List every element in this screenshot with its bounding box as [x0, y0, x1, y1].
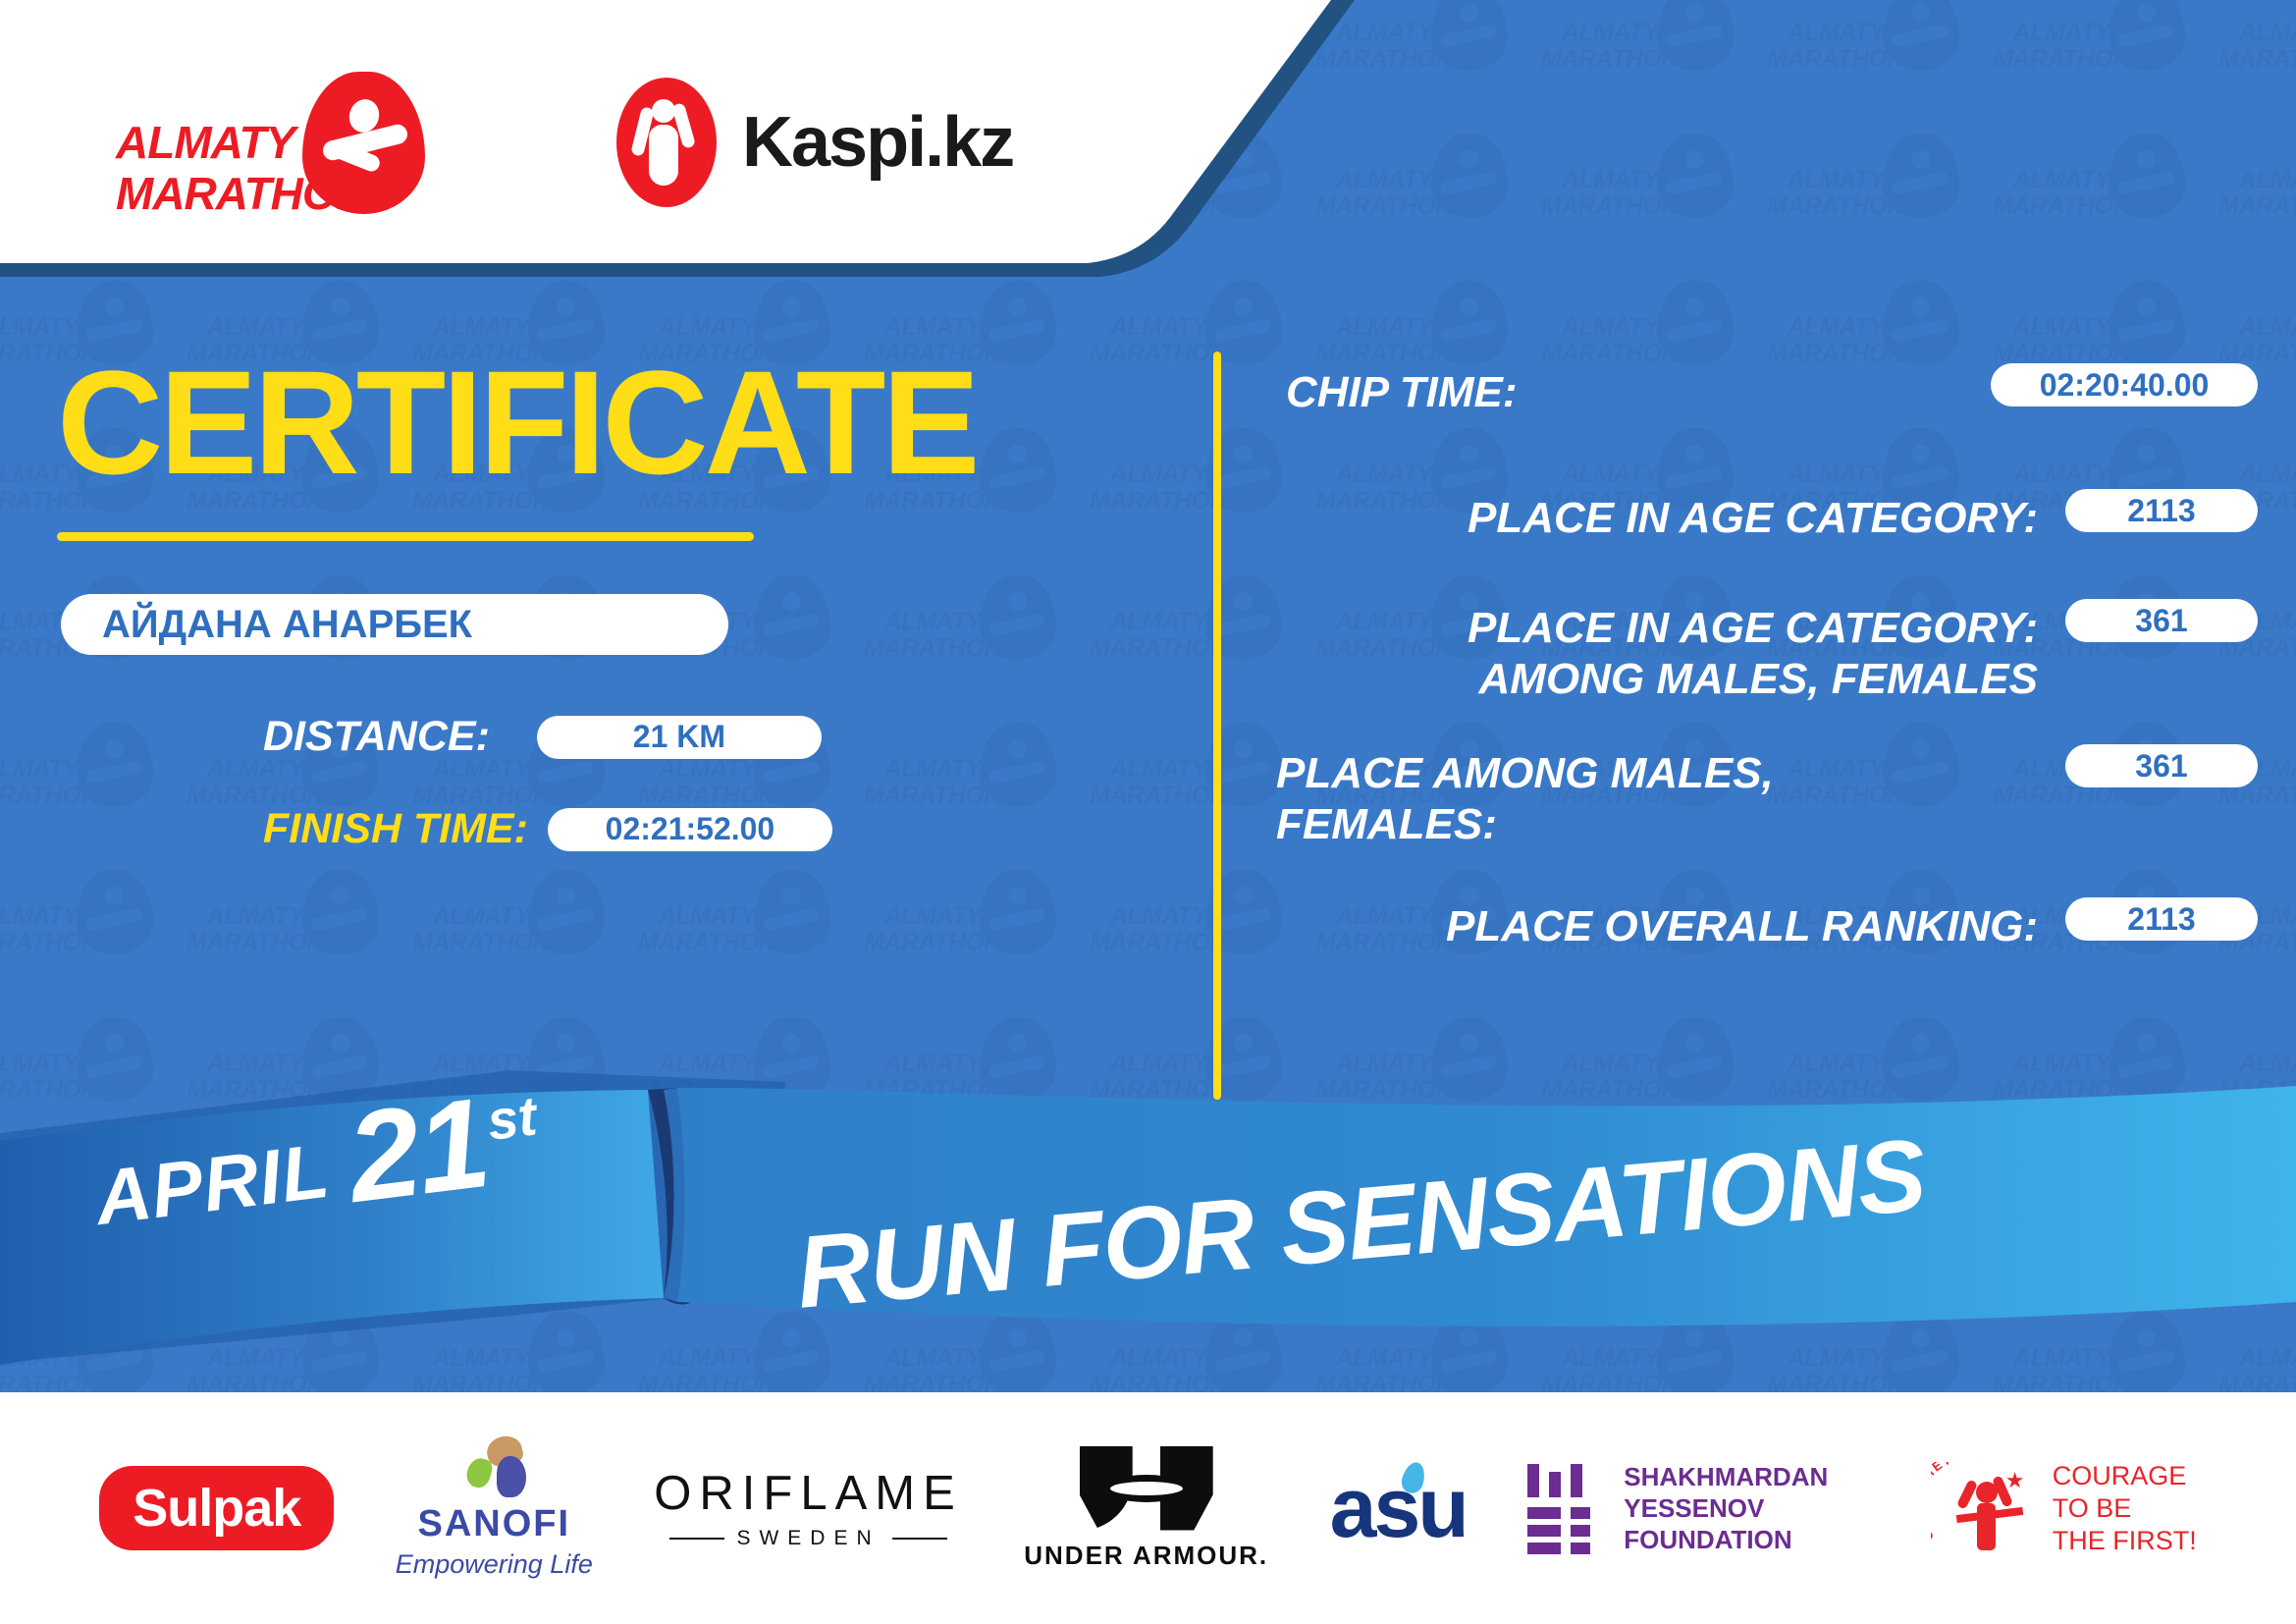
- label-line-1: PLACE AMONG MALES,: [1276, 748, 2038, 799]
- watermark-drop-icon: [2109, 281, 2185, 365]
- watermark-text: ALMATYMARATHON: [1541, 167, 1659, 220]
- yessenov-foundation-wordmark: SHAKHMARDAN YESSENOV FOUNDATION: [1624, 1461, 1869, 1555]
- watermark-tile: ALMATYMARATHON: [1993, 128, 2218, 275]
- watermark-tile: ALMATYMARATHON: [1541, 128, 1767, 275]
- distance-label: DISTANCE:: [263, 713, 490, 761]
- watermark-tile: ALMATYMARATHON: [1315, 128, 1541, 275]
- under-armour-icon: [1080, 1446, 1213, 1531]
- vertical-divider: [1213, 352, 1221, 1100]
- place-age-category-value: 2113: [2065, 489, 2258, 532]
- watermark-text: ALMATYMARATHON: [1541, 20, 1659, 73]
- participant-name-field: АЙДАНА АНАРБЕК: [61, 594, 728, 655]
- watermark-drop-icon: [2109, 0, 2185, 71]
- watermark-text: ALMATYMARATHON: [1315, 314, 1433, 367]
- oriflame-tagline: SWEDEN: [736, 1527, 880, 1550]
- sponsor-under-armour: UNDER ARMOUR.: [1024, 1446, 1268, 1571]
- sponsor-oriflame: ORIFLAME SWEDEN: [654, 1466, 962, 1550]
- chip-time-value: 02:20:40.00: [1991, 363, 2258, 406]
- asu-text: asu: [1330, 1461, 1467, 1555]
- place-age-category-label: PLACE IN AGE CATEGORY:: [1276, 489, 2065, 544]
- distance-value: 21 KM: [537, 716, 822, 759]
- kaspi-logo: Kaspi.kz: [616, 78, 1013, 207]
- watermark-drop-icon: [1883, 134, 1959, 218]
- place-age-category-among-value: 361: [2065, 599, 2258, 642]
- watermark-drop-icon: [1883, 281, 1959, 365]
- logo-line-2: MARATHON: [116, 168, 302, 219]
- almaty-marathon-logo: ALMATY MARATHON: [116, 64, 440, 221]
- certificate-canvas: ALMATYMARATHONALMATYMARATHONALMATYMARATH…: [0, 0, 2296, 1624]
- divider-line-right: [892, 1538, 947, 1540]
- stat-row: PLACE AMONG MALES, FEMALES: 361: [1276, 744, 2258, 850]
- star-icon: ★: [2005, 1468, 2025, 1493]
- watermark-drop-icon: [1431, 0, 1508, 71]
- watermark-text: ALMATYMARATHON: [2218, 314, 2296, 367]
- watermark-tile: ALMATYMARATHON: [1993, 0, 2218, 128]
- watermark-text: ALMATYMARATHON: [1315, 20, 1433, 73]
- kaspi-person-icon: [616, 78, 717, 207]
- place-among-males-females-value: 361: [2065, 744, 2258, 787]
- watermark-tile: ALMATYMARATHON: [2218, 128, 2296, 275]
- watermark-drop-icon: [1431, 281, 1508, 365]
- stats-column: CHIP TIME: 02:20:40.00 PLACE IN AGE CATE…: [1276, 363, 2258, 980]
- distance-row: DISTANCE: 21 KM: [263, 713, 822, 761]
- stat-row: PLACE IN AGE CATEGORY: AMONG MALES, FEMA…: [1276, 599, 2258, 705]
- sulpak-wordmark: Sulpak: [99, 1466, 334, 1550]
- sanofi-tagline: Empowering Life: [396, 1549, 593, 1580]
- yessenov-glyph-icon: [1527, 1464, 1600, 1552]
- place-overall-ranking-value: 2113: [2065, 897, 2258, 941]
- corporate-fund-wordmark: COURAGETO BETHE FIRST!: [2053, 1460, 2197, 1557]
- watermark-text: ALMATYMARATHON: [2218, 20, 2296, 73]
- watermark-text: ALMATYMARATHON: [1993, 20, 2110, 73]
- sponsor-yessenov-foundation: SHAKHMARDAN YESSENOV FOUNDATION: [1527, 1461, 1869, 1555]
- watermark-tile: ALMATYMARATHON: [2218, 0, 2296, 128]
- stat-row: PLACE OVERALL RANKING: 2113: [1276, 897, 2258, 952]
- oriflame-wordmark: ORIFLAME: [654, 1466, 962, 1521]
- watermark-drop-icon: [1431, 134, 1508, 218]
- watermark-text: ALMATYMARATHON: [1767, 167, 1885, 220]
- divider-line-left: [669, 1538, 724, 1540]
- page-title: CERTIFICATE: [57, 349, 977, 496]
- corporate-fund-icon: CORPORATE FUND ★: [1931, 1456, 2039, 1560]
- watermark-drop-icon: [2109, 134, 2185, 218]
- sponsor-corporate-fund: CORPORATE FUND ★ COURAGETO BETHE FIRST!: [1931, 1456, 2197, 1560]
- watermark-drop-icon: [1883, 0, 1959, 71]
- place-among-males-females-label: PLACE AMONG MALES, FEMALES:: [1276, 744, 2065, 850]
- place-age-category-among-label: PLACE IN AGE CATEGORY: AMONG MALES, FEMA…: [1276, 599, 2065, 705]
- watermark-tile: ALMATYMARATHON: [1767, 128, 1993, 275]
- stat-row: PLACE IN AGE CATEGORY: 2113: [1276, 489, 2258, 544]
- label-line-1: PLACE IN AGE CATEGORY:: [1276, 603, 2038, 654]
- stat-row: CHIP TIME: 02:20:40.00: [1276, 363, 2258, 418]
- finish-time-row: FINISH TIME: 02:21:52.00: [263, 805, 832, 853]
- sponsor-asu: asu: [1330, 1460, 1467, 1557]
- title-divider: [57, 532, 754, 541]
- watermark-drop-icon: [1657, 281, 1734, 365]
- label-line-2: FEMALES:: [1276, 799, 2038, 850]
- asu-wordmark: asu: [1330, 1460, 1467, 1557]
- watermark-tile: ALMATYMARATHON: [1541, 0, 1767, 128]
- label-line-2: AMONG MALES, FEMALES: [1276, 654, 2038, 705]
- header-content: ALMATY MARATHON Kaspi.kz: [0, 0, 1276, 285]
- watermark-text: ALMATYMARATHON: [1315, 167, 1433, 220]
- event-day: 21: [342, 1084, 493, 1218]
- sanofi-bird-icon: [459, 1436, 528, 1497]
- chip-time-label: CHIP TIME:: [1276, 363, 1991, 418]
- certificate-left-column: CERTIFICATE АЙДАНА АНАРБЕК DISTANCE: 21 …: [0, 324, 1158, 1110]
- place-overall-ranking-label: PLACE OVERALL RANKING:: [1276, 897, 2065, 952]
- watermark-tile: ALMATYMARATHON: [1315, 0, 1541, 128]
- event-day-suffix: st: [484, 1083, 540, 1153]
- finish-time-value: 02:21:52.00: [548, 808, 832, 851]
- watermark-text: ALMATYMARATHON: [2218, 167, 2296, 220]
- sponsor-sulpak: Sulpak: [99, 1466, 334, 1550]
- sanofi-wordmark: SANOFI: [396, 1503, 593, 1545]
- watermark-text: ALMATYMARATHON: [1767, 20, 1885, 73]
- watermark-tile: ALMATYMARATHON: [1767, 0, 1993, 128]
- participant-name-value: АЙДАНА АНАРБЕК: [102, 603, 472, 647]
- watermark-drop-icon: [1657, 134, 1734, 218]
- watermark-text: ALMATYMARATHON: [1993, 167, 2110, 220]
- sponsor-strip: Sulpak SANOFI Empowering Life ORIFLAME S…: [0, 1392, 2296, 1624]
- watermark-text: ALMATYMARATHON: [1541, 314, 1659, 367]
- sponsor-sanofi: SANOFI Empowering Life: [396, 1436, 593, 1580]
- finish-time-label: FINISH TIME:: [263, 805, 528, 853]
- watermark-text: ALMATYMARATHON: [1993, 314, 2110, 367]
- under-armour-wordmark: UNDER ARMOUR.: [1024, 1541, 1268, 1571]
- watermark-text: ALMATYMARATHON: [1767, 314, 1885, 367]
- watermark-drop-icon: [1657, 0, 1734, 71]
- almaty-marathon-wordmark: ALMATY MARATHON: [116, 117, 302, 219]
- kaspi-wordmark: Kaspi.kz: [742, 102, 1013, 183]
- logo-line-1: ALMATY: [116, 117, 302, 168]
- event-ribbon: APRIL 21 st RUN FOR SENSATIONS: [0, 1070, 2296, 1394]
